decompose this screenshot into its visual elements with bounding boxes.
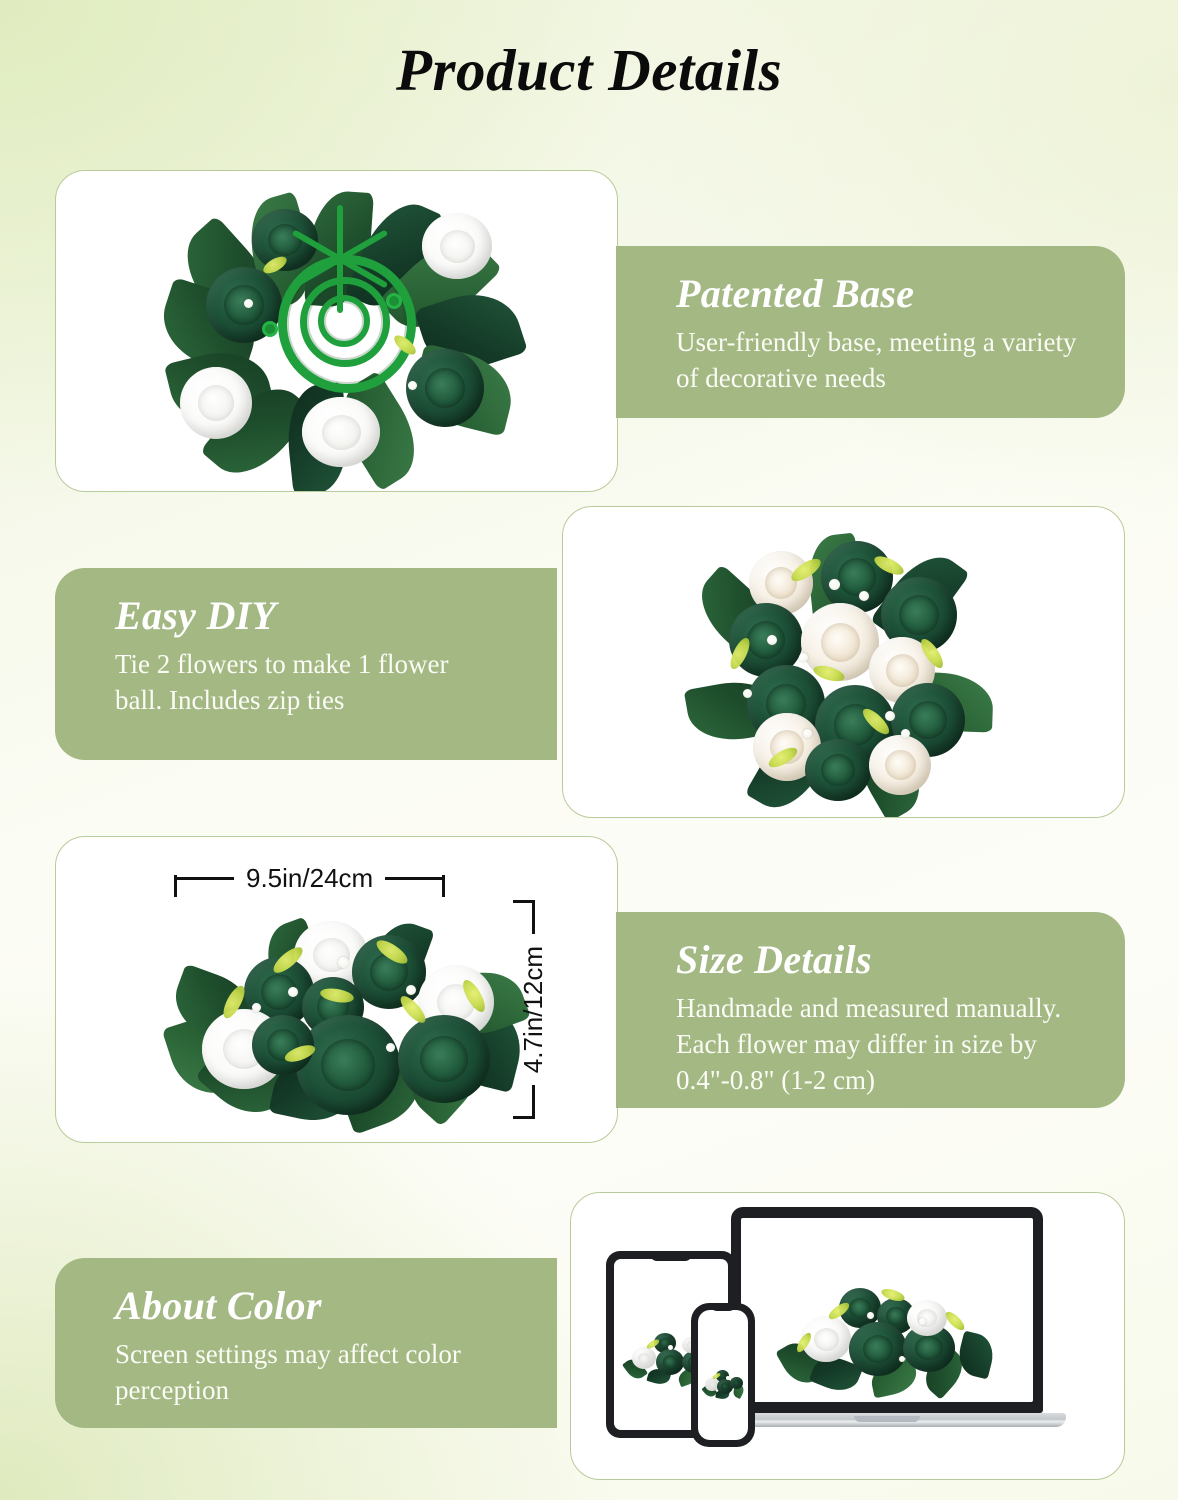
- phone-screen-content: [698, 1310, 748, 1440]
- base-knob: [262, 321, 278, 337]
- feature-text-card-patented-base: Patented Base User-friendly base, meetin…: [616, 246, 1125, 418]
- green-rose: [849, 1322, 907, 1376]
- feature-text-card-size-details: Size Details Handmade and measured manua…: [616, 912, 1125, 1108]
- tablet-notch: [650, 1251, 692, 1261]
- babys-breath: [899, 1356, 905, 1362]
- product-details-infographic: Product Details: [0, 0, 1178, 1500]
- babys-breath: [668, 1345, 673, 1350]
- patented-base-ring-inner: [318, 295, 370, 347]
- height-dimension-label: 4.7in/12cm: [520, 934, 546, 1085]
- babys-breath: [386, 1043, 395, 1052]
- babys-breath: [244, 299, 253, 308]
- product-image-on-laptop: [767, 1272, 1007, 1392]
- laptop-screen-content: [741, 1218, 1033, 1402]
- babys-breath: [252, 1003, 261, 1012]
- flower-base-top-view-image: [56, 171, 618, 492]
- base-spoke: [337, 259, 343, 313]
- feature-image-card-easy-diy: [562, 506, 1125, 818]
- babys-breath: [867, 1312, 874, 1319]
- green-rose: [805, 739, 871, 801]
- green-rose: [296, 1015, 400, 1115]
- feature-body-about-color: Screen settings may affect color percept…: [115, 1337, 497, 1409]
- babys-breath: [859, 591, 869, 601]
- laptop-base: [708, 1413, 1066, 1427]
- feature-text-card-about-color: About Color Screen settings may affect c…: [55, 1258, 557, 1428]
- babys-breath: [767, 635, 777, 645]
- product-image-on-phone: [702, 1368, 746, 1398]
- horizontal-measure-icon: [385, 877, 445, 880]
- feature-body-easy-diy: Tie 2 flowers to make 1 flower ball. Inc…: [115, 647, 497, 719]
- babys-breath: [799, 653, 808, 662]
- height-dimension-annotation: 4.7in/12cm: [520, 900, 546, 1119]
- white-rose: [302, 397, 380, 467]
- width-dimension-label: 9.5in/24cm: [234, 865, 385, 891]
- page-title: Product Details: [0, 36, 1178, 105]
- cream-rose: [869, 735, 931, 795]
- green-rose: [406, 349, 484, 427]
- phone-notch: [710, 1303, 736, 1311]
- green-rose: [398, 1015, 490, 1103]
- babys-breath: [803, 729, 812, 738]
- babys-breath: [726, 1376, 730, 1380]
- green-rose: [656, 1349, 684, 1375]
- babys-breath: [829, 579, 840, 590]
- feature-body-size-details: Handmade and measured manually. Each flo…: [676, 991, 1091, 1099]
- phone-icon: [691, 1303, 755, 1447]
- vertical-measure-icon: [532, 900, 535, 934]
- feature-body-patented-base: User-friendly base, meeting a variety of…: [676, 325, 1091, 397]
- base-spoke: [337, 205, 343, 259]
- width-dimension-annotation: 9.5in/24cm: [174, 865, 445, 891]
- babys-breath: [288, 987, 298, 997]
- horizontal-measure-icon: [174, 877, 234, 880]
- babys-breath: [919, 1318, 926, 1325]
- babys-breath: [408, 381, 417, 390]
- feature-title-size-details: Size Details: [676, 938, 1091, 983]
- babys-breath: [338, 957, 349, 968]
- white-rose: [422, 213, 492, 279]
- babys-breath: [885, 711, 895, 721]
- babys-breath: [901, 729, 910, 738]
- babys-breath: [743, 689, 752, 698]
- feature-image-card-about-color: [570, 1192, 1125, 1480]
- green-rose: [730, 1377, 743, 1389]
- babys-breath: [406, 985, 416, 995]
- laptop-screen: [731, 1207, 1043, 1413]
- feature-text-card-easy-diy: Easy DIY Tie 2 flowers to make 1 flower …: [55, 568, 557, 760]
- feature-title-easy-diy: Easy DIY: [115, 594, 497, 639]
- white-rose: [180, 367, 252, 439]
- white-rose: [632, 1347, 656, 1369]
- feature-image-card-patented-base: [55, 170, 618, 492]
- feature-title-patented-base: Patented Base: [676, 272, 1091, 317]
- flower-ball-image: [563, 507, 1125, 818]
- white-rose: [907, 1300, 947, 1336]
- vertical-measure-icon: [532, 1085, 535, 1119]
- base-knob: [386, 293, 402, 309]
- feature-title-about-color: About Color: [115, 1284, 497, 1329]
